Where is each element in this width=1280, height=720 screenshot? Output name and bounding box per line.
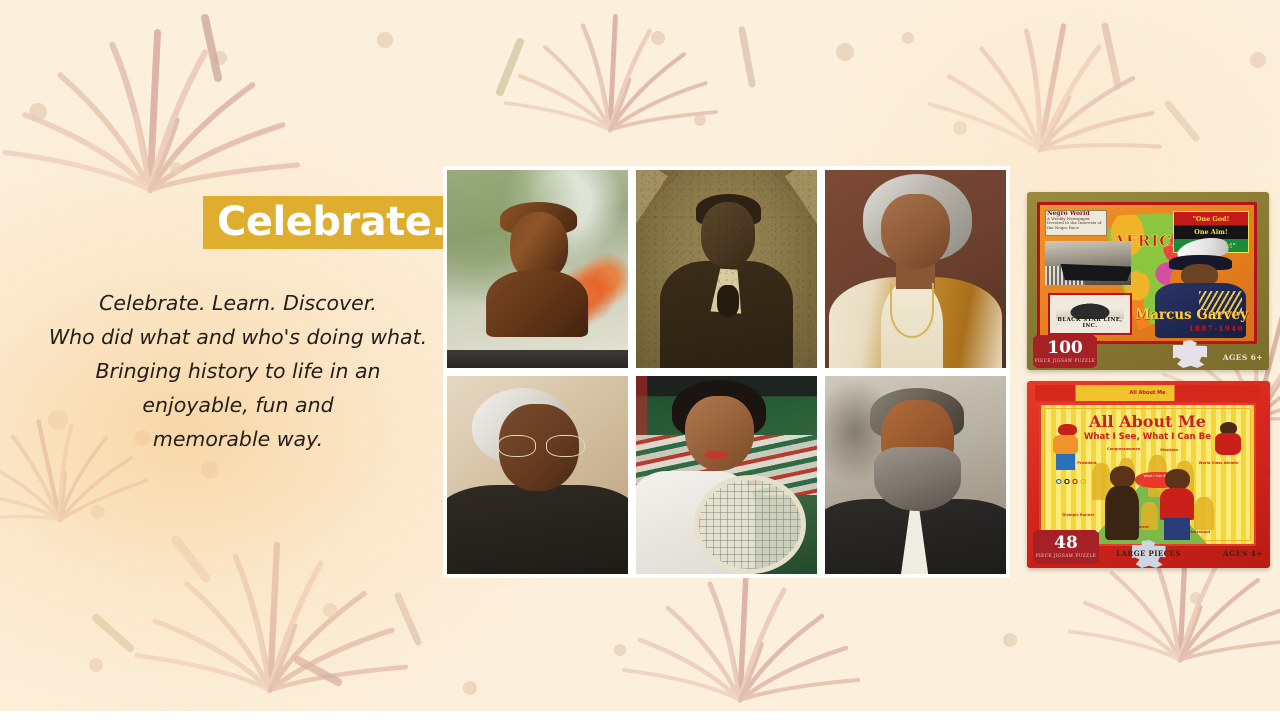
piece-count-badge: 48 PIECE JIGSAW PUZZLE (1033, 530, 1099, 564)
bottom-white-strip (0, 711, 1280, 720)
piece-count-badge: 100 PIECE JIGSAW PUZZLE (1033, 335, 1097, 368)
child-figure-left (1105, 466, 1139, 538)
black-star-line-ship-photo (1045, 241, 1131, 285)
role-label-olympic-runner: Olympic Runner (1062, 513, 1094, 517)
box-artwork: All About Me What I See, What I Can Be P… (1039, 403, 1256, 546)
photo-sepia-engraving-portrait: Sepia-toned historical engraving of a ma… (632, 166, 821, 372)
silhouette-astronaut (1194, 497, 1213, 530)
child-figure-right (1160, 469, 1194, 539)
product-marcus-garvey-puzzle[interactable]: AFRICA "One God! One Aim! One Destiny!" … (1027, 192, 1269, 370)
headline-banner: Celebrate. (203, 196, 455, 249)
age-rating: AGES 6+ (1223, 353, 1263, 362)
product-title: Marcus Garvey (1120, 307, 1248, 323)
tagline-line-2: Who did what and who's doing what. (38, 320, 438, 354)
slide-canvas: Celebrate. Celebrate. Learn. Discover. W… (0, 0, 1280, 720)
newspaper-subtitle: A Weekly Newspaper Devoted to the Intere… (1047, 216, 1101, 230)
photo-bronze-bust-portrait: Bronze bust sculpture of a woman wearing… (443, 166, 632, 372)
piece-count-sublabel: PIECE JIGSAW PUZZLE (1033, 553, 1099, 558)
piece-count: 100 (1033, 335, 1097, 358)
role-label-congresswoman: Congresswoman (1107, 447, 1140, 451)
piece-count: 48 (1033, 530, 1099, 553)
role-label-athlete: World Class Athlete (1199, 461, 1239, 465)
olympic-rings-icon (1054, 477, 1088, 485)
trumpeter-figure (1214, 422, 1244, 458)
tagline-line-3: Bringing history to life in an (38, 354, 438, 388)
product-dates: 1887-1940 (1124, 324, 1244, 333)
tagline-line-1: Celebrate. Learn. Discover. (38, 286, 438, 320)
tagline-line-4: enjoyable, fun and (38, 388, 438, 422)
tagline-paragraph: Celebrate. Learn. Discover. Who did what… (38, 286, 438, 456)
tagline-line-5: memorable way. (38, 422, 438, 456)
black-star-line-label: BLACK STAR LINE, INC. (1050, 317, 1130, 329)
photo-elder-man-glasses-portrait: Smiling elder man with white hair, wire … (443, 372, 632, 578)
photo-tennis-player-portrait: Woman in white tennis shirt holding a wo… (632, 372, 821, 578)
box-artwork: AFRICA "One God! One Aim! One Destiny!" … (1037, 202, 1257, 344)
role-label-president: President (1077, 461, 1097, 465)
photo-collage: Bronze bust sculpture of a woman wearing… (443, 166, 1010, 578)
age-rating: AGES 4+ (1223, 549, 1263, 558)
box-spine-label: All About Me (1035, 385, 1260, 401)
photo-bearded-inventor-portrait: Colorized portrait of a bearded man in a… (821, 372, 1010, 578)
piece-size-label: LARGE PIECES (1116, 549, 1181, 558)
piece-count-sublabel: PIECE JIGSAW PUZZLE (1033, 358, 1097, 363)
photo-woman-author-portrait: Grey-haired woman in cream top and gold … (821, 166, 1010, 372)
page-title: Celebrate. (217, 199, 446, 245)
role-label-musician: Musician (1160, 448, 1178, 452)
slogan-line-1: "One God! (1174, 213, 1248, 227)
product-all-about-me-puzzle[interactable]: All About Me All About Me What I See, Wh… (1027, 381, 1270, 568)
negro-world-newspaper-clip: Negro World A Weekly Newspaper Devoted t… (1045, 210, 1107, 236)
